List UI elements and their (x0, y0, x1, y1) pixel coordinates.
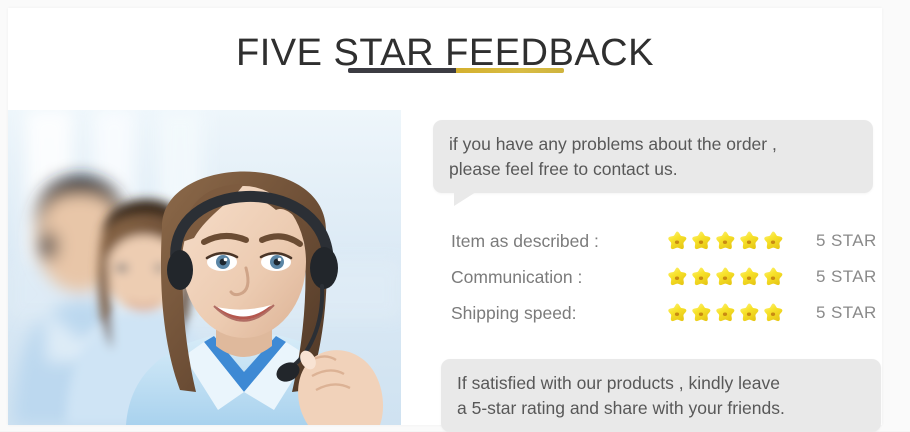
star-icon (738, 302, 760, 324)
rating-row: Item as described : 5 STAR (451, 223, 878, 259)
star-icon (714, 302, 736, 324)
star-rating (666, 302, 794, 324)
rating-row: Communication : 5 STAR (451, 259, 878, 295)
rating-row: Shipping speed: 5 STAR (451, 295, 878, 331)
star-rating (666, 230, 794, 252)
rating-value: 5 STAR (794, 267, 877, 287)
rating-label: Shipping speed: (451, 303, 666, 324)
star-icon (762, 266, 784, 288)
review-request-bubble: If satisfied with our products , kindly … (441, 359, 881, 432)
star-icon (666, 266, 688, 288)
agent-photo (8, 110, 401, 425)
support-message-line-1: if you have any problems about the order… (449, 132, 859, 157)
title-underline (348, 68, 564, 73)
star-icon (714, 266, 736, 288)
star-icon (666, 302, 688, 324)
star-icon (762, 302, 784, 324)
feedback-content: if you have any problems about the order… (433, 120, 878, 432)
feedback-card: FIVE STAR FEEDBACK (8, 8, 882, 425)
agent-photo-illustration (8, 110, 401, 425)
star-icon (666, 230, 688, 252)
title-underline-dark-segment (348, 68, 456, 73)
feedback-banner: FIVE STAR FEEDBACK (0, 0, 910, 431)
rating-label: Communication : (451, 267, 666, 288)
rating-value: 5 STAR (794, 231, 877, 251)
review-request-line-2: a 5-star rating and share with your frie… (457, 396, 867, 421)
star-icon (738, 230, 760, 252)
ratings-list: Item as described : 5 STAR Communication… (433, 223, 878, 331)
title-underline-gold-segment (456, 68, 564, 73)
star-icon (738, 266, 760, 288)
star-icon (762, 230, 784, 252)
support-message-line-2: please feel free to contact us. (449, 157, 859, 182)
star-icon (690, 266, 712, 288)
star-rating (666, 266, 794, 288)
star-icon (690, 230, 712, 252)
star-icon (714, 230, 736, 252)
star-icon (690, 302, 712, 324)
rating-label: Item as described : (451, 231, 666, 252)
support-message-bubble: if you have any problems about the order… (433, 120, 873, 193)
review-request-line-1: If satisfied with our products , kindly … (457, 371, 867, 396)
rating-value: 5 STAR (794, 303, 877, 323)
